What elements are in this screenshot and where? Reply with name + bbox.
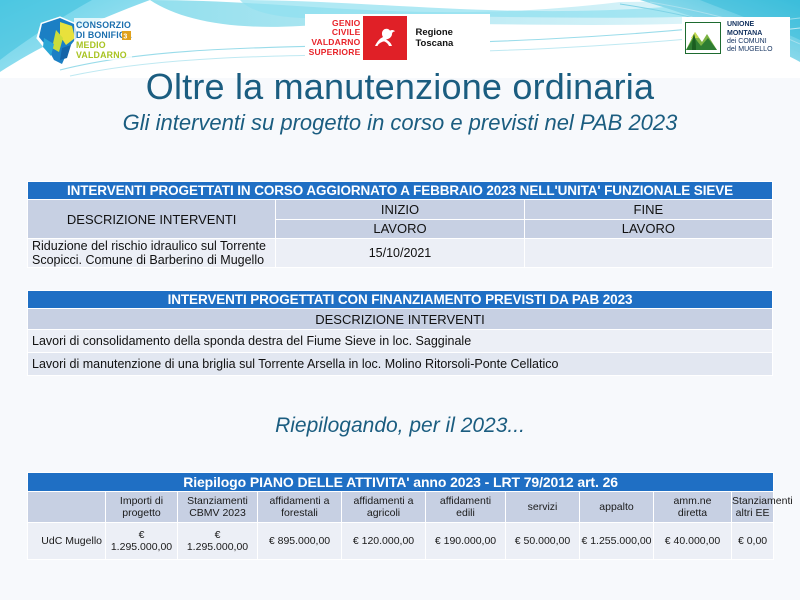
mountain-icon <box>685 22 721 54</box>
cell-appalto: € 1.255.000,00 <box>580 523 654 560</box>
header-descrizione-interventi: DESCRIZIONE INTERVENTI <box>28 200 276 239</box>
cell-servizi: € 50.000,00 <box>506 523 580 560</box>
table-interventi-in-corso: INTERVENTI PROGETTATI IN CORSO AGGIORNAT… <box>27 181 773 268</box>
header-descrizione-interventi: DESCRIZIONE INTERVENTI <box>28 309 773 330</box>
header-line-2: progetto <box>122 507 161 519</box>
svg-text:VALDARNO: VALDARNO <box>76 50 127 60</box>
unione-line-4: del MUGELLO <box>727 46 773 54</box>
header-affidamenti-agricoli: affidamenti a agricoli <box>342 492 426 523</box>
table-row-banner: Riepilogo PIANO DELLE ATTIVITA' anno 202… <box>28 473 774 492</box>
unione-line-1: UNIONE <box>727 21 773 29</box>
svg-text:3: 3 <box>123 33 127 40</box>
table-row: Lavori di consolidamento della sponda de… <box>28 330 773 353</box>
header-appalto: appalto <box>580 492 654 523</box>
header-line-1: affidamenti a <box>354 495 414 507</box>
header-amm-ne-diretta: amm.ne diretta <box>654 492 732 523</box>
unione-montana-text: UNIONE MONTANA dei COMUNI del MUGELLO <box>721 21 773 55</box>
header-fine-lavoro-line1: FINE <box>524 200 772 220</box>
cell-importi-di-progetto: € 1.295.000,00 <box>106 523 178 560</box>
table-row-header: DESCRIZIONE INTERVENTI <box>28 309 773 330</box>
header-line-2: altri EE <box>736 507 770 519</box>
value-currency: € <box>139 529 145 541</box>
header-inizio-lavoro-line2: LAVORO <box>276 219 524 239</box>
cell-intervento-1: Lavori di consolidamento della sponda de… <box>28 330 773 353</box>
table-row: Riduzione del rischio idraulico sul Torr… <box>28 239 773 268</box>
table-row-banner: INTERVENTI PROGETTATI CON FINANZIAMENTO … <box>28 291 773 309</box>
header-servizi: servizi <box>506 492 580 523</box>
header-line-2: CBMV 2023 <box>189 507 246 519</box>
table-riepilogo-piano-attivita: Riepilogo PIANO DELLE ATTIVITA' anno 202… <box>27 472 774 560</box>
table-row: UdC Mugello € 1.295.000,00 € 1.295.000,0… <box>28 523 774 560</box>
cell-affidamenti-agricoli: € 120.000,00 <box>342 523 426 560</box>
cell-affidamenti-forestali: € 895.000,00 <box>258 523 342 560</box>
cell-descrizione: Riduzione del rischio idraulico sul Torr… <box>28 239 276 268</box>
cell-affidamenti-edili: € 190.000,00 <box>426 523 506 560</box>
table3-banner: Riepilogo PIANO DELLE ATTIVITA' anno 202… <box>28 473 774 492</box>
header-line-1: Stanziamenti <box>187 495 248 507</box>
value-amount: 1.295.000,00 <box>111 541 172 553</box>
header-stanziamenti-altri-ee: Stanziamenti altri EE <box>732 492 774 523</box>
cell-inizio-lavoro: 15/10/2021 <box>276 239 524 268</box>
header-line-1: Stanziamenti <box>732 495 793 507</box>
table-row-header: Importi di progetto Stanziamenti CBMV 20… <box>28 492 774 523</box>
header-stanziamenti-cbmv: Stanziamenti CBMV 2023 <box>178 492 258 523</box>
cell-stanziamenti-altri-ee: € 0,00 <box>732 523 774 560</box>
header-affidamenti-forestali: affidamenti a forestali <box>258 492 342 523</box>
riepilogando-text: Riepilogando, per il 2023... <box>0 414 800 438</box>
header-line-2: forestali <box>281 507 318 519</box>
header-line-2: agricoli <box>367 507 400 519</box>
cell-amm-ne-diretta: € 40.000,00 <box>654 523 732 560</box>
pegaso-shield-icon <box>363 16 407 60</box>
header-fine-lavoro-line2: LAVORO <box>524 219 772 239</box>
svg-text:MEDIO: MEDIO <box>76 40 106 50</box>
header-line-2: diretta <box>678 507 707 519</box>
unione-line-3: dei COMUNI <box>727 38 773 46</box>
header-importi-di-progetto: Importi di progetto <box>106 492 178 523</box>
table-row: Lavori di manutenzione di una briglia su… <box>28 353 773 376</box>
header-inizio-lavoro-line1: INIZIO <box>276 200 524 220</box>
slide-subtitle: Gli interventi su progetto in corso e pr… <box>0 110 800 136</box>
genio-civile-logo: GENIO CIVILE VALDARNO SUPERIORE Regione … <box>305 14 490 62</box>
slide-title: Oltre la manutenzione ordinaria <box>0 66 800 108</box>
table1-banner: INTERVENTI PROGETTATI IN CORSO AGGIORNAT… <box>28 182 773 200</box>
value-amount: 1.295.000,00 <box>187 541 248 553</box>
cell-stanziamenti-cbmv: € 1.295.000,00 <box>178 523 258 560</box>
table-row-banner: INTERVENTI PROGETTATI IN CORSO AGGIORNAT… <box>28 182 773 200</box>
genio-line-4: SUPERIORE <box>305 48 360 58</box>
cell-intervento-2: Lavori di manutenzione di una briglia su… <box>28 353 773 376</box>
unione-line-2: MONTANA <box>727 30 773 38</box>
genio-civile-text: GENIO CIVILE VALDARNO SUPERIORE <box>305 19 363 57</box>
header-line-1: Importi di <box>120 495 163 507</box>
cell-row-label: UdC Mugello <box>28 523 106 560</box>
header-line-2: edili <box>456 507 475 519</box>
header-line-1: amm.ne <box>674 495 712 507</box>
consorzio-logo: CONSORZIO DI BONIFICA 3 MEDIO VALDARNO <box>30 14 135 72</box>
table2-banner: INTERVENTI PROGETTATI CON FINANZIAMENTO … <box>28 291 773 309</box>
header-line-1: affidamenti a <box>270 495 330 507</box>
svg-text:CONSORZIO: CONSORZIO <box>76 20 131 30</box>
unione-montana-logo: UNIONE MONTANA dei COMUNI del MUGELLO <box>682 17 790 59</box>
header-blank <box>28 492 106 523</box>
table-interventi-previsti-pab: INTERVENTI PROGETTATI CON FINANZIAMENTO … <box>27 290 773 376</box>
value-currency: € <box>215 529 221 541</box>
regione-toscana-label: Regione Toscana <box>407 27 490 49</box>
header-affidamenti-edili: affidamenti edili <box>426 492 506 523</box>
table-row-header: DESCRIZIONE INTERVENTI INIZIO FINE <box>28 200 773 220</box>
cell-fine-lavoro <box>524 239 772 268</box>
header-line-1: affidamenti <box>440 495 491 507</box>
